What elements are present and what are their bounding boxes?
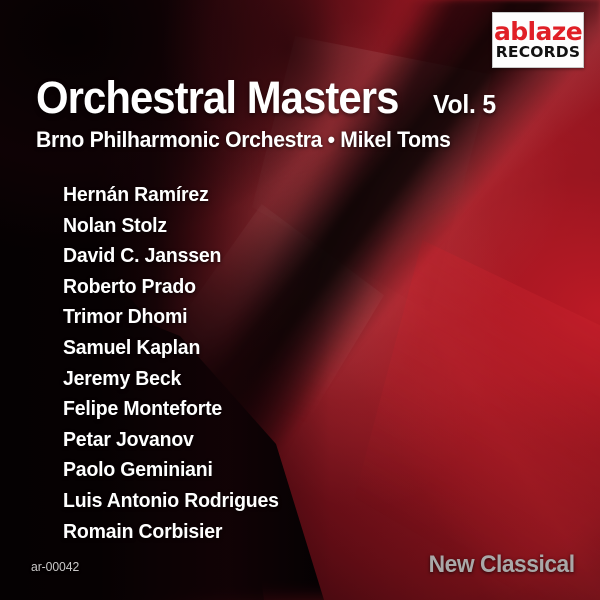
- logo-records-text: RECORDS: [496, 45, 580, 61]
- composer-name: Trimor Dhomi: [63, 302, 279, 333]
- ablaze-records-logo[interactable]: ablaze RECORDS: [492, 12, 584, 68]
- performer-subtitle: Brno Philharmonic Orchestra • Mikel Toms: [36, 127, 471, 153]
- catalogue-number: ar-00042: [31, 559, 79, 574]
- title-row: Orchestral Masters Vol. 5: [36, 72, 499, 124]
- composer-name: Jeremy Beck: [63, 364, 279, 395]
- composer-name: Romain Corbisier: [63, 517, 279, 548]
- composer-name: David C. Janssen: [63, 241, 279, 272]
- album-title: Orchestral Masters: [36, 72, 398, 124]
- composer-name: Luis Antonio Rodrigues: [63, 486, 279, 517]
- composer-name: Paolo Geminiani: [63, 455, 279, 486]
- composer-name: Nolan Stolz: [63, 211, 279, 242]
- logo-brand-text: ablaze: [494, 19, 582, 44]
- cover-content: ablaze RECORDS Orchestral Masters Vol. 5…: [0, 0, 600, 600]
- composer-name: Roberto Prado: [63, 272, 279, 303]
- title-block: Orchestral Masters Vol. 5 Brno Philharmo…: [36, 72, 499, 153]
- composer-name: Hernán Ramírez: [63, 180, 279, 211]
- volume-label: Vol. 5: [433, 89, 496, 120]
- genre-tagline: New Classical: [429, 551, 575, 579]
- composer-name: Felipe Monteforte: [63, 394, 279, 425]
- composer-name: Samuel Kaplan: [63, 333, 279, 364]
- album-cover: ablaze RECORDS Orchestral Masters Vol. 5…: [0, 0, 600, 600]
- composer-list: Hernán Ramírez Nolan Stolz David C. Jans…: [63, 180, 290, 547]
- composer-name: Petar Jovanov: [63, 425, 279, 456]
